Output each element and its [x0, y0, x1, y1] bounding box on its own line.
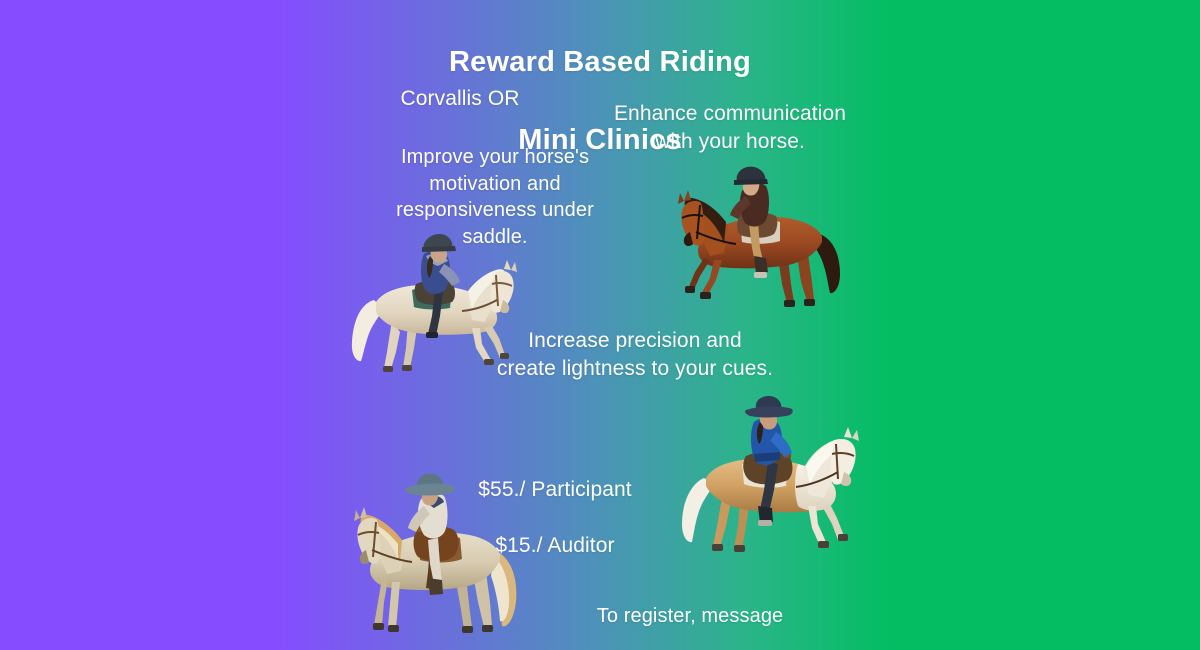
register-line-1: To register, message: [525, 603, 855, 630]
riding-boot: [428, 578, 443, 595]
dun-horse-and-rider-bottom-image: [342, 468, 536, 650]
poster-canvas: Reward Based Riding Mini Clinics Corvall…: [0, 0, 1200, 650]
palomino-horse-and-rider-left-image: [340, 228, 518, 388]
title-line-1: Reward Based Riding: [0, 43, 1200, 82]
register-block: To register, message Equine Harmony Conn…: [525, 576, 855, 650]
location-text: Corvallis OR: [330, 86, 590, 112]
riding-boot: [754, 256, 768, 274]
bay-horse-and-rider-right-image: [660, 160, 856, 326]
benefit-communication-text: Enhance communication with your horse.: [585, 100, 875, 156]
palomino-horse-and-rider-lower-image: [668, 392, 872, 570]
